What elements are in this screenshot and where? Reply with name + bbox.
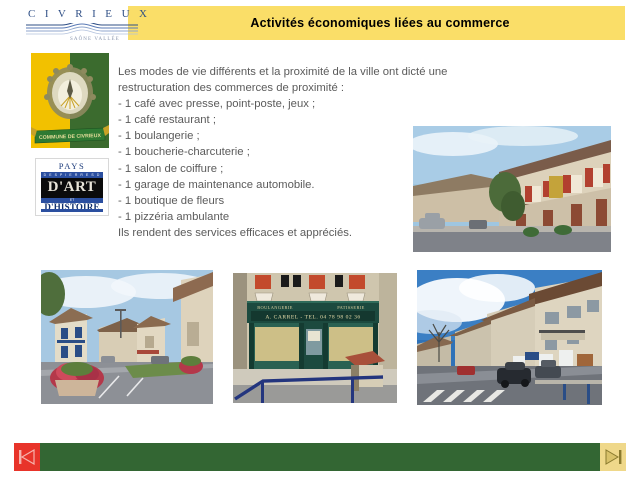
photo-street-shutters bbox=[413, 126, 611, 252]
photo-bakery: BOULANGERIE PATISSERIE A. CARREL - TEL. … bbox=[233, 273, 397, 403]
pays-line-pays: PAYS bbox=[39, 161, 105, 172]
first-slide-icon bbox=[18, 449, 36, 465]
pays-black-panel: D'ART bbox=[41, 178, 103, 198]
coat-of-arms-civrieux: COMMUNE DE CIVRIEUX bbox=[31, 53, 109, 148]
pays-line-dart: D'ART bbox=[41, 179, 103, 196]
navigation-bar bbox=[14, 443, 626, 471]
civrieux-logo: C I V R I E U X SAÔNE VALLÉE bbox=[14, 8, 134, 46]
svg-text:PATISSERIE: PATISSERIE bbox=[337, 305, 365, 310]
next-slide-icon bbox=[604, 449, 622, 465]
civrieux-tagline: SAÔNE VALLÉE bbox=[70, 37, 120, 42]
body-intro-line-2: restructuration des commerces de proximi… bbox=[118, 80, 518, 96]
svg-text:A. CARREL - TEL. 04 78 98 02: A. CARREL - TEL. 04 78 98 02 36 bbox=[265, 315, 360, 321]
photo-village-square bbox=[41, 270, 213, 404]
body-intro-line-1: Les modes de vie différents et la proxim… bbox=[118, 64, 518, 80]
body-item-1: - 1 café avec presse, point-poste, jeux … bbox=[118, 96, 518, 112]
pays-art-histoire-logo: PAYS D E S P I E R R E S D O R E E S D'A… bbox=[35, 158, 109, 216]
svg-text:BOULANGERIE: BOULANGERIE bbox=[257, 305, 293, 310]
wave-lines-icon bbox=[26, 23, 138, 37]
page-title: Activités économiques liées au commerce bbox=[160, 6, 600, 40]
pays-bottom-bar bbox=[41, 209, 103, 212]
photo-street-winter bbox=[417, 270, 602, 405]
first-slide-button[interactable] bbox=[14, 443, 40, 471]
next-slide-button[interactable] bbox=[600, 443, 626, 471]
civrieux-wordmark: C I V R I E U X bbox=[28, 8, 138, 20]
